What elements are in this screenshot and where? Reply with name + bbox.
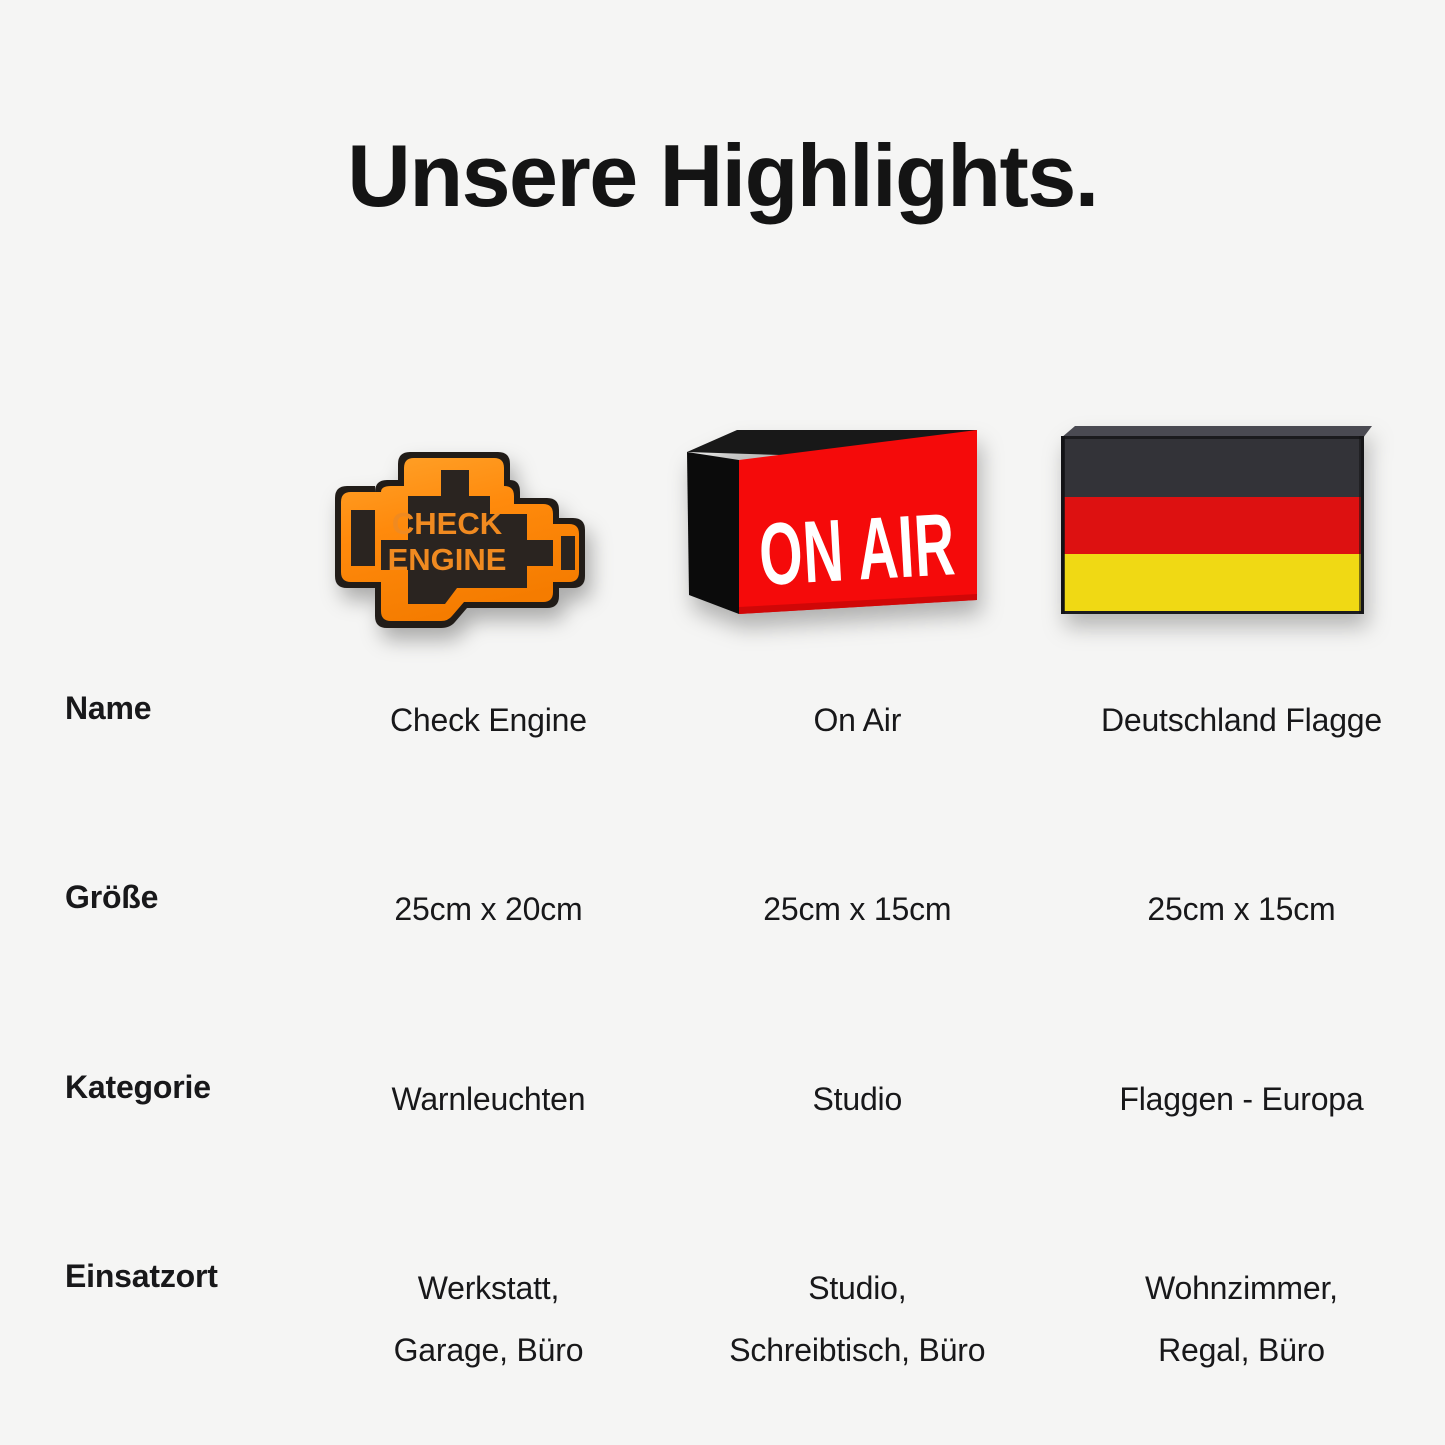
row-label-groesse: Größe (0, 879, 300, 940)
page-title: Unsere Highlights. (0, 132, 1445, 220)
check-engine-lamp-icon: CHECK ENGINE (315, 418, 635, 643)
row-label-name: Name (0, 690, 300, 751)
highlights-page: Unsere Highlights. (0, 0, 1445, 1445)
row-spacer (0, 1130, 1445, 1258)
cell-usage-flagge: Wohnzimmer,Regal, Büro (1038, 1258, 1445, 1381)
table-row: Name Check Engine On Air Deutschland Fla… (0, 690, 1445, 751)
check-engine-text-line2: ENGINE (388, 542, 507, 577)
specs-table: Name Check Engine On Air Deutschland Fla… (0, 690, 1445, 1381)
cell-size-on-air: 25cm x 15cm (677, 879, 1038, 940)
table-row: Größe 25cm x 20cm 25cm x 15cm 25cm x 15c… (0, 879, 1445, 940)
cell-category-flagge: Flaggen - Europa (1038, 1069, 1445, 1130)
cell-name-on-air: On Air (677, 690, 1038, 751)
row-label-einsatzort: Einsatzort (0, 1258, 300, 1381)
product-image-row: CHECK ENGINE ON AIR (0, 400, 1445, 690)
product-image-on-air[interactable]: ON AIR (665, 400, 1020, 690)
cell-name-flagge: Deutschland Flagge (1038, 690, 1445, 751)
germany-flag-lightbox-icon (1053, 422, 1378, 632)
cell-size-check-engine: 25cm x 20cm (300, 879, 677, 940)
cell-name-check-engine: Check Engine (300, 690, 677, 751)
check-engine-text-line1: CHECK (392, 506, 503, 541)
table-row: Einsatzort Werkstatt,Garage, Büro Studio… (0, 1258, 1445, 1381)
cell-usage-check-engine: Werkstatt,Garage, Büro (300, 1258, 677, 1381)
product-image-deutschland-flagge[interactable] (1020, 400, 1420, 690)
table-row: Kategorie Warnleuchten Studio Flaggen - … (0, 1069, 1445, 1130)
on-air-lightbox-icon: ON AIR (677, 422, 1007, 642)
cell-usage-on-air: Studio,Schreibtisch, Büro (677, 1258, 1038, 1381)
row-spacer (0, 941, 1445, 1069)
cell-category-on-air: Studio (677, 1069, 1038, 1130)
row-label-kategorie: Kategorie (0, 1069, 300, 1130)
cell-size-flagge: 25cm x 15cm (1038, 879, 1445, 940)
on-air-text: ON AIR (757, 494, 958, 604)
product-image-check-engine[interactable]: CHECK ENGINE (295, 400, 690, 690)
row-spacer (0, 751, 1445, 879)
cell-category-check-engine: Warnleuchten (300, 1069, 677, 1130)
